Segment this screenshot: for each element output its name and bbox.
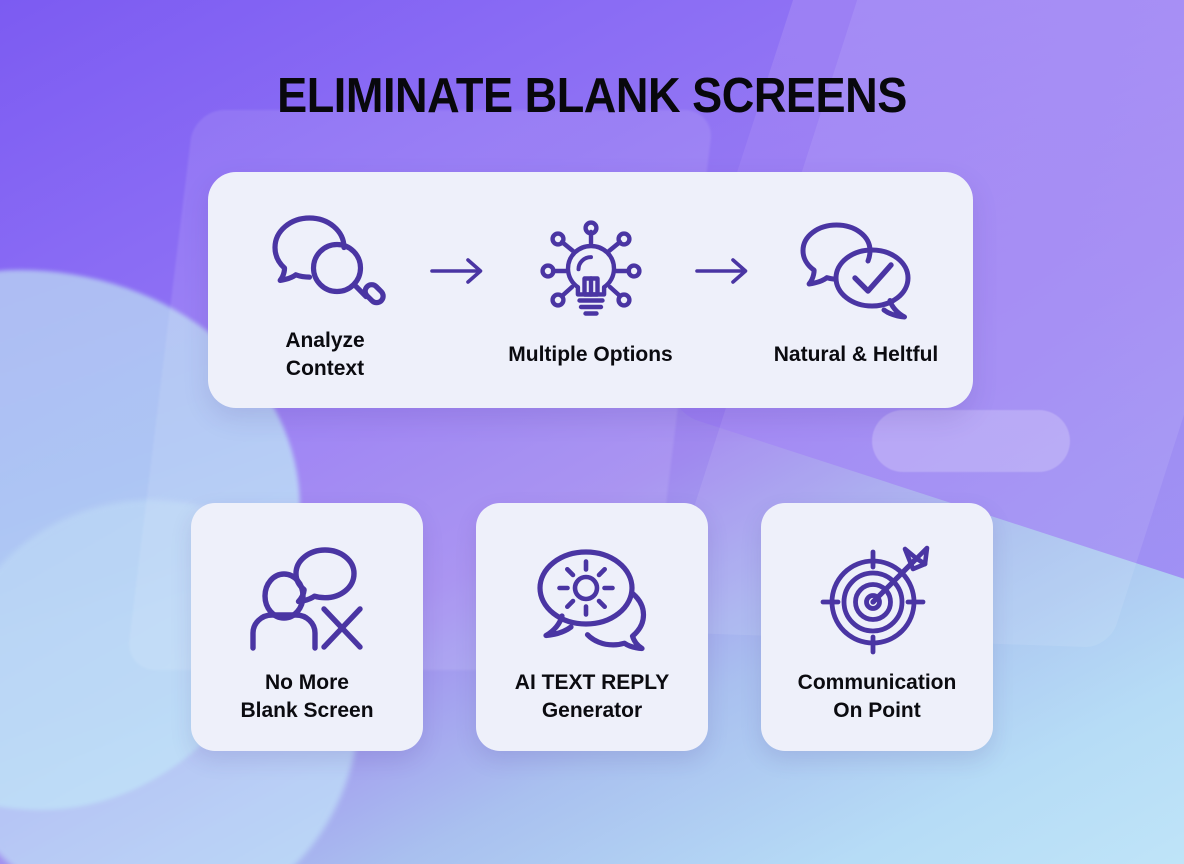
flow-arrow-2-icon <box>686 257 760 285</box>
flow-step-label: Natural & Heltful <box>774 341 939 369</box>
flow-step-label: Analyze Context <box>285 327 364 382</box>
feature-card-ai-text-reply-generator[interactable]: AI TEXT REPLY Generator <box>476 503 708 751</box>
page-title: ELIMINATE BLANK SCREENS <box>47 72 1136 121</box>
target-arrow-icon <box>821 543 933 655</box>
speech-bubble-gear-icon <box>534 543 650 655</box>
speech-bubbles-check-icon <box>794 219 918 327</box>
process-flow-panel: Analyze Context <box>208 172 973 408</box>
feature-card-no-more-blank-screen[interactable]: No More Blank Screen <box>191 503 423 751</box>
feature-card-label: AI TEXT REPLY Generator <box>515 669 669 725</box>
flow-step-multiple-options: Multiple Options <box>496 211 686 369</box>
speech-bubble-magnifier-icon <box>266 205 384 313</box>
flow-step-analyze-context: Analyze Context <box>230 197 420 382</box>
flow-arrow-1-icon <box>421 257 495 285</box>
feature-card-communication-on-point[interactable]: Communication On Point <box>761 503 993 751</box>
feature-cards-row: No More Blank Screen <box>191 503 993 751</box>
feature-card-label: Communication On Point <box>798 669 957 725</box>
infographic-root: ELIMINATE BLANK SCREENS Analyze Context <box>0 0 1184 864</box>
feature-card-label: No More Blank Screen <box>240 669 373 725</box>
flow-step-label: Multiple Options <box>508 341 672 369</box>
lightbulb-network-icon <box>530 219 652 327</box>
flow-step-natural-helpful: Natural & Heltful <box>761 211 951 369</box>
person-speech-bubble-x-icon <box>248 543 366 655</box>
